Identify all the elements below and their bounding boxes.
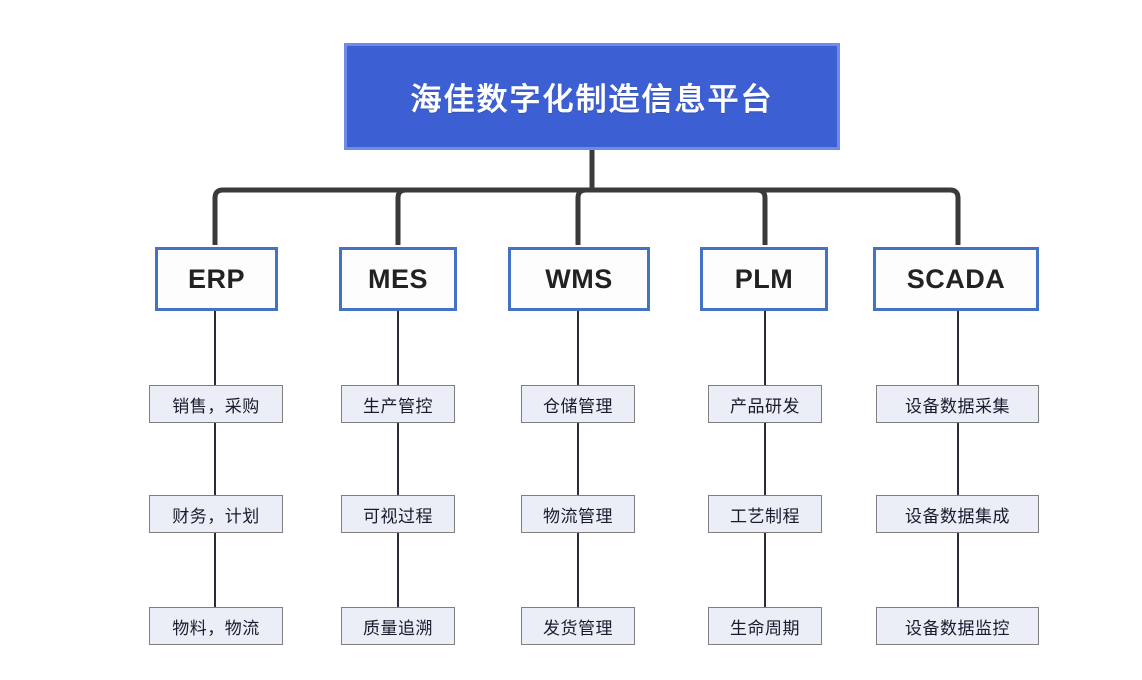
- branch-node-plm[interactable]: PLM: [700, 247, 828, 311]
- leaf-node-wms-2[interactable]: 物流管理: [521, 495, 635, 533]
- leaf-label-wms-2: 物流管理: [543, 502, 613, 527]
- connector-drop-plm: [757, 190, 765, 245]
- leaf-node-wms-3[interactable]: 发货管理: [521, 607, 635, 645]
- branch-node-mes[interactable]: MES: [339, 247, 457, 311]
- branch-label-erp: ERP: [188, 264, 245, 295]
- leaf-label-mes-3: 质量追溯: [363, 614, 433, 639]
- connector-drop-mes: [398, 190, 406, 245]
- connector-drop-wms: [578, 190, 586, 245]
- leaf-node-wms-1[interactable]: 仓储管理: [521, 385, 635, 423]
- leaf-label-wms-1: 仓储管理: [543, 392, 613, 417]
- leaf-label-plm-2: 工艺制程: [730, 502, 800, 527]
- leaf-node-scada-1[interactable]: 设备数据采集: [876, 385, 1039, 423]
- leaf-node-scada-2[interactable]: 设备数据集成: [876, 495, 1039, 533]
- platform-title-label: 海佳数字化制造信息平台: [411, 74, 774, 119]
- leaf-node-mes-2[interactable]: 可视过程: [341, 495, 455, 533]
- branch-node-scada[interactable]: SCADA: [873, 247, 1039, 311]
- diagram-canvas: 海佳数字化制造信息平台 ERP MES WMS PLM SCADA 销售，采购 …: [0, 0, 1142, 680]
- leaf-node-plm-1[interactable]: 产品研发: [708, 385, 822, 423]
- leaf-node-mes-1[interactable]: 生产管控: [341, 385, 455, 423]
- leaf-label-plm-1: 产品研发: [730, 392, 800, 417]
- branch-label-wms: WMS: [545, 264, 612, 295]
- leaf-label-scada-3: 设备数据监控: [905, 614, 1010, 639]
- leaf-label-scada-2: 设备数据集成: [905, 502, 1010, 527]
- leaf-label-wms-3: 发货管理: [543, 614, 613, 639]
- leaf-node-mes-3[interactable]: 质量追溯: [341, 607, 455, 645]
- branch-label-scada: SCADA: [907, 264, 1006, 295]
- leaf-label-erp-3: 物料，物流: [172, 614, 260, 639]
- branch-node-erp[interactable]: ERP: [155, 247, 278, 311]
- leaf-label-erp-2: 财务，计划: [172, 502, 260, 527]
- leaf-node-scada-3[interactable]: 设备数据监控: [876, 607, 1039, 645]
- leaf-node-plm-3[interactable]: 生命周期: [708, 607, 822, 645]
- leaf-label-mes-2: 可视过程: [363, 502, 433, 527]
- leaf-label-mes-1: 生产管控: [363, 392, 433, 417]
- platform-title-node[interactable]: 海佳数字化制造信息平台: [344, 43, 840, 150]
- branch-node-wms[interactable]: WMS: [508, 247, 650, 311]
- leaf-node-erp-1[interactable]: 销售，采购: [149, 385, 283, 423]
- connector-bus: [215, 190, 958, 245]
- leaf-label-erp-1: 销售，采购: [172, 392, 260, 417]
- leaf-label-scada-1: 设备数据采集: [905, 392, 1010, 417]
- branch-label-mes: MES: [368, 264, 428, 295]
- leaf-label-plm-3: 生命周期: [730, 614, 800, 639]
- leaf-node-plm-2[interactable]: 工艺制程: [708, 495, 822, 533]
- leaf-node-erp-3[interactable]: 物料，物流: [149, 607, 283, 645]
- leaf-node-erp-2[interactable]: 财务，计划: [149, 495, 283, 533]
- branch-label-plm: PLM: [735, 264, 794, 295]
